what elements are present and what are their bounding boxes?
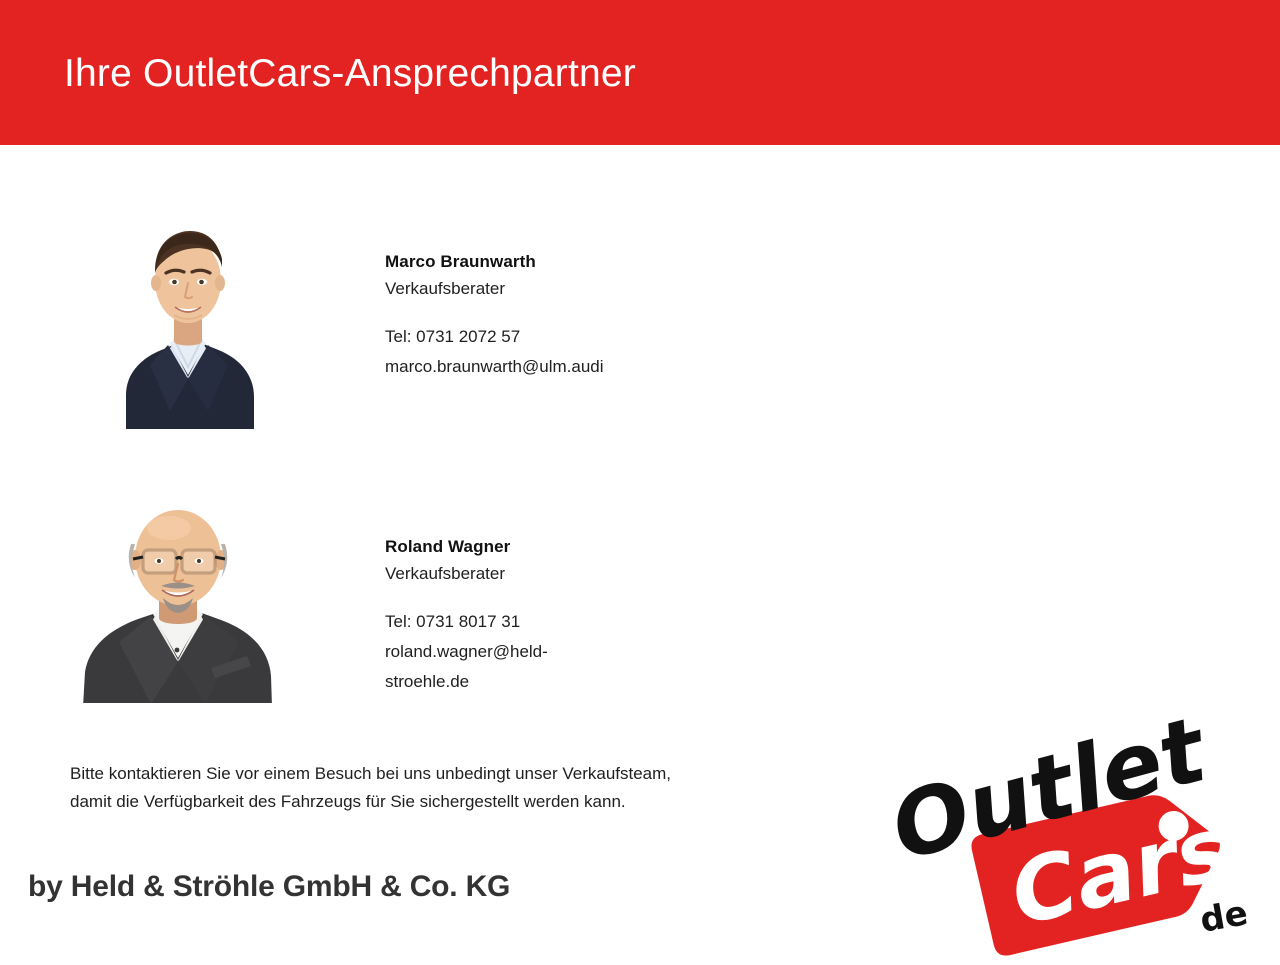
contact-role: Verkaufsberater	[385, 560, 548, 587]
visit-notice-line-2: damit die Verfügbarkeit des Fahrzeugs fü…	[70, 788, 850, 816]
spacer	[385, 302, 604, 322]
portrait-photo-marco-braunwarth	[112, 215, 264, 433]
visit-notice-line-1: Bitte kontaktieren Sie vor einem Besuch …	[70, 760, 850, 788]
spacer	[385, 587, 548, 607]
contact-role: Verkaufsberater	[385, 275, 604, 302]
outletcars-logo[interactable]: Cars Outlet de	[880, 715, 1280, 960]
header-banner: Ihre OutletCars-Ansprechpartner	[0, 0, 1280, 145]
contact-details-roland-wagner: Roland Wagner Verkaufsberater Tel: 0731 …	[385, 533, 548, 697]
portrait-photo-roland-wagner	[71, 500, 286, 707]
page-title: Ihre OutletCars-Ansprechpartner	[64, 50, 636, 98]
contact-details-marco-braunwarth: Marco Braunwarth Verkaufsberater Tel: 07…	[385, 248, 604, 382]
contact-name: Marco Braunwarth	[385, 248, 604, 275]
contact-email[interactable]: marco.braunwarth@ulm.audi	[385, 352, 604, 382]
contact-name: Roland Wagner	[385, 533, 548, 560]
visit-notice: Bitte kontaktieren Sie vor einem Besuch …	[70, 760, 850, 816]
company-name: by Held & Ströhle GmbH & Co. KG	[28, 870, 510, 904]
contact-email[interactable]: roland.wagner@held-stroehle.de	[385, 637, 548, 697]
contact-phone[interactable]: Tel: 0731 2072 57	[385, 322, 604, 352]
logo-tld-text: de	[1197, 893, 1251, 941]
contact-phone[interactable]: Tel: 0731 8017 31	[385, 607, 548, 637]
